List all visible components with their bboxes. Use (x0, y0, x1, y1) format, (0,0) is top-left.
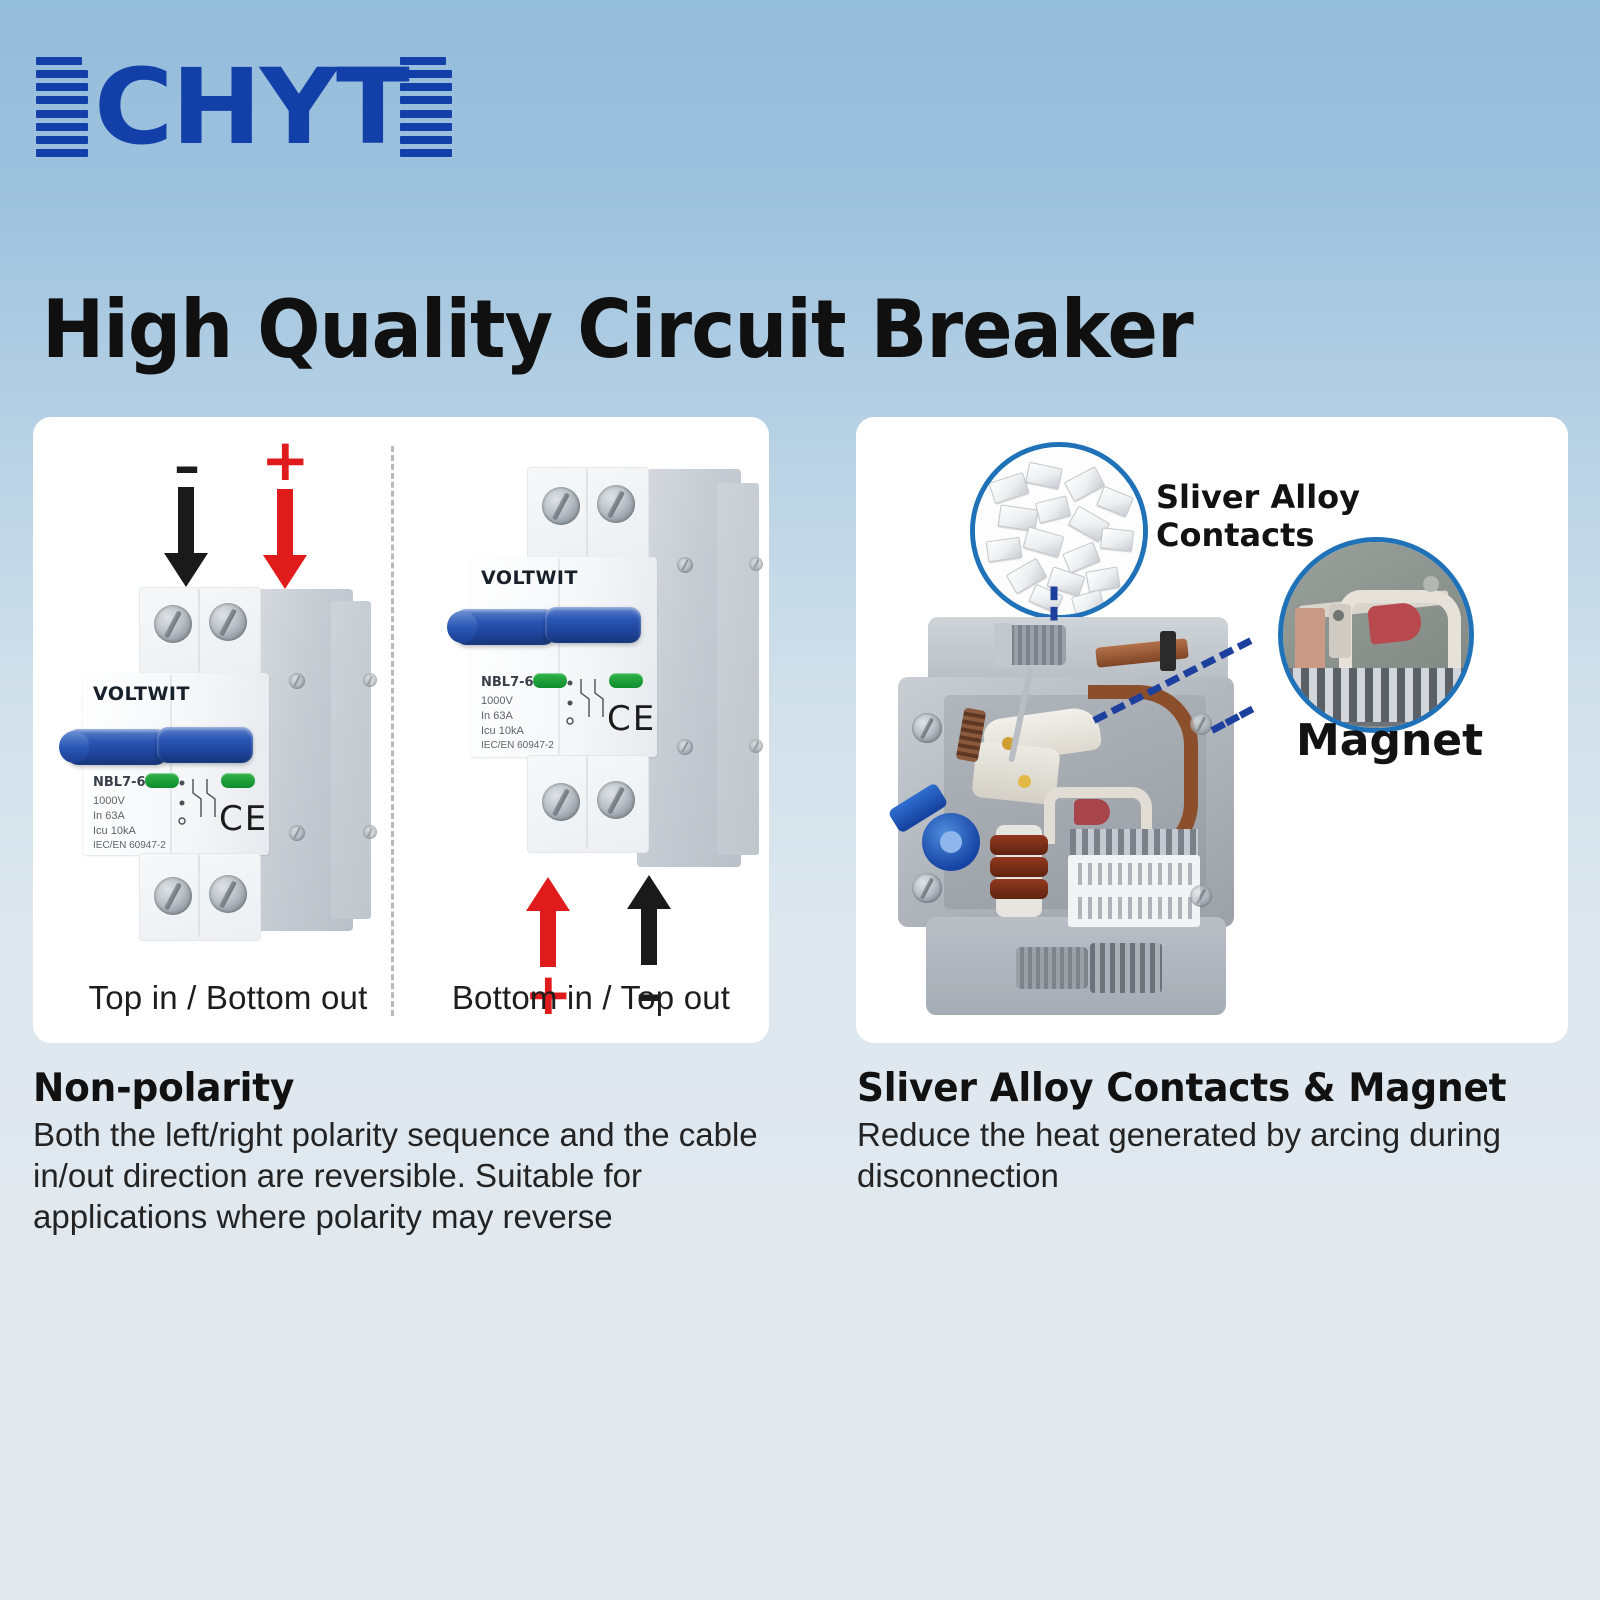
right-section-body: Reduce the heat generated by arcing duri… (857, 1114, 1557, 1196)
ce-mark-left: CE (219, 799, 268, 839)
silver-alloy-contacts-photo (970, 442, 1148, 620)
breaker-illustration-right: VOLTWIT NBL7-63 1000V In 63A Icu 10kA IE… (441, 457, 769, 887)
ce-mark-right: CE (607, 699, 656, 739)
brand-logo: CHYT (36, 52, 452, 162)
breaker-brand-label-left: VOLTWIT (93, 683, 190, 705)
breaker-spec-4-right: IEC/EN 60947-2 (481, 740, 554, 751)
breaker-internal-mechanism-photo (898, 617, 1318, 1017)
caption-bottom-in-top-out: Bottom in / Top out (431, 979, 751, 1017)
logo-bars-left-icon (36, 57, 88, 157)
breaker-spec-1-right: 1000V (481, 695, 513, 707)
breaker-spec-3-left: Icu 10kA (93, 825, 136, 837)
page-title: High Quality Circuit Breaker (42, 286, 1193, 374)
lead-line-contacts (1051, 587, 1058, 621)
left-section-body: Both the left/right polarity sequence an… (33, 1114, 793, 1237)
page-header: CHYT (0, 0, 1600, 210)
breaker-spec-1-left: 1000V (93, 795, 125, 807)
breaker-spec-2-right: In 63A (481, 710, 513, 722)
caption-top-in-bottom-out: Top in / Bottom out (63, 979, 393, 1017)
breaker-brand-label-right: VOLTWIT (481, 567, 578, 589)
arrow-top-left-negative (166, 487, 206, 587)
panel-divider (391, 446, 394, 1016)
breaker-spec-4-left: IEC/EN 60947-2 (93, 840, 166, 851)
breaker-schematic-icon-left (177, 773, 219, 833)
contacts-magnet-card: Sliver Alloy Contacts Magnet (856, 417, 1568, 1043)
sign-positive-top: + (261, 431, 309, 489)
breaker-spec-3-right: Icu 10kA (481, 725, 524, 737)
non-polarity-card: – + VOLTWIT NBL7-63 1000V In 63A Icu 10k… (33, 417, 769, 1043)
arrow-top-right-positive (265, 489, 305, 589)
sign-negative-top: – (165, 441, 209, 493)
callout-label-magnet: Magnet (1296, 715, 1483, 767)
breaker-spec-2-left: In 63A (93, 810, 125, 822)
right-section-title: Sliver Alloy Contacts & Magnet (857, 1066, 1506, 1111)
breaker-illustration-left: VOLTWIT NBL7-63 1000V In 63A Icu 10kA IE… (53, 577, 393, 947)
left-section-title: Non-polarity (33, 1066, 294, 1111)
arrow-bottom-right-negative (629, 875, 669, 975)
breaker-schematic-icon-right (565, 673, 607, 733)
logo-wordmark: CHYT (94, 57, 408, 157)
